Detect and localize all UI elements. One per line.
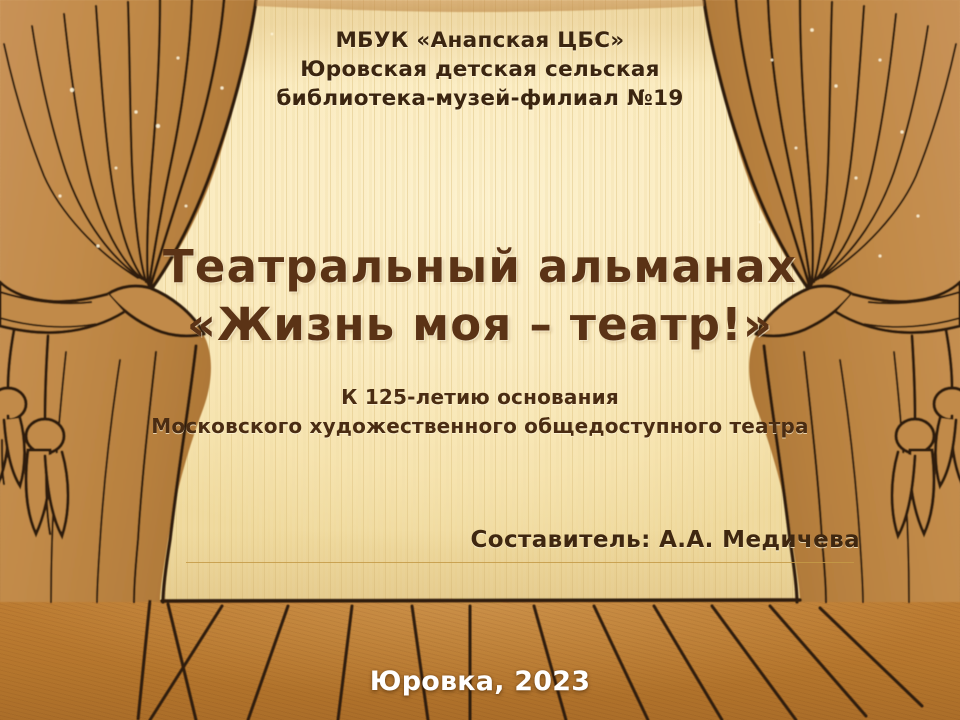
title-line-2: «Жизнь моя – театр!» <box>110 296 850 354</box>
slide-title: Театральный альманах «Жизнь моя – театр!… <box>110 238 850 353</box>
slide-subtitle: К 125-летию основания Московского художе… <box>120 383 840 441</box>
compiler-credit: Составитель: А.А. Медичева <box>300 527 918 553</box>
title-line-1: Театральный альманах <box>110 238 850 296</box>
organization-line-1: МБУК «Анапская ЦБС» <box>180 26 780 55</box>
subtitle-line-1: К 125-летию основания <box>120 383 840 412</box>
slide-canvas: МБУК «Анапская ЦБС» Юровская детская сел… <box>0 0 960 720</box>
subtitle-line-2: Московского художественного общедоступно… <box>120 412 840 441</box>
organization-line-2: Юровская детская сельская <box>180 55 780 84</box>
stage-floor <box>0 600 960 720</box>
organization-line-3: библиотека-музей-филиал №19 <box>180 84 780 113</box>
organization-header: МБУК «Анапская ЦБС» Юровская детская сел… <box>180 26 780 113</box>
divider-rule <box>186 562 854 563</box>
place-year-footer: Юровка, 2023 <box>330 666 630 697</box>
